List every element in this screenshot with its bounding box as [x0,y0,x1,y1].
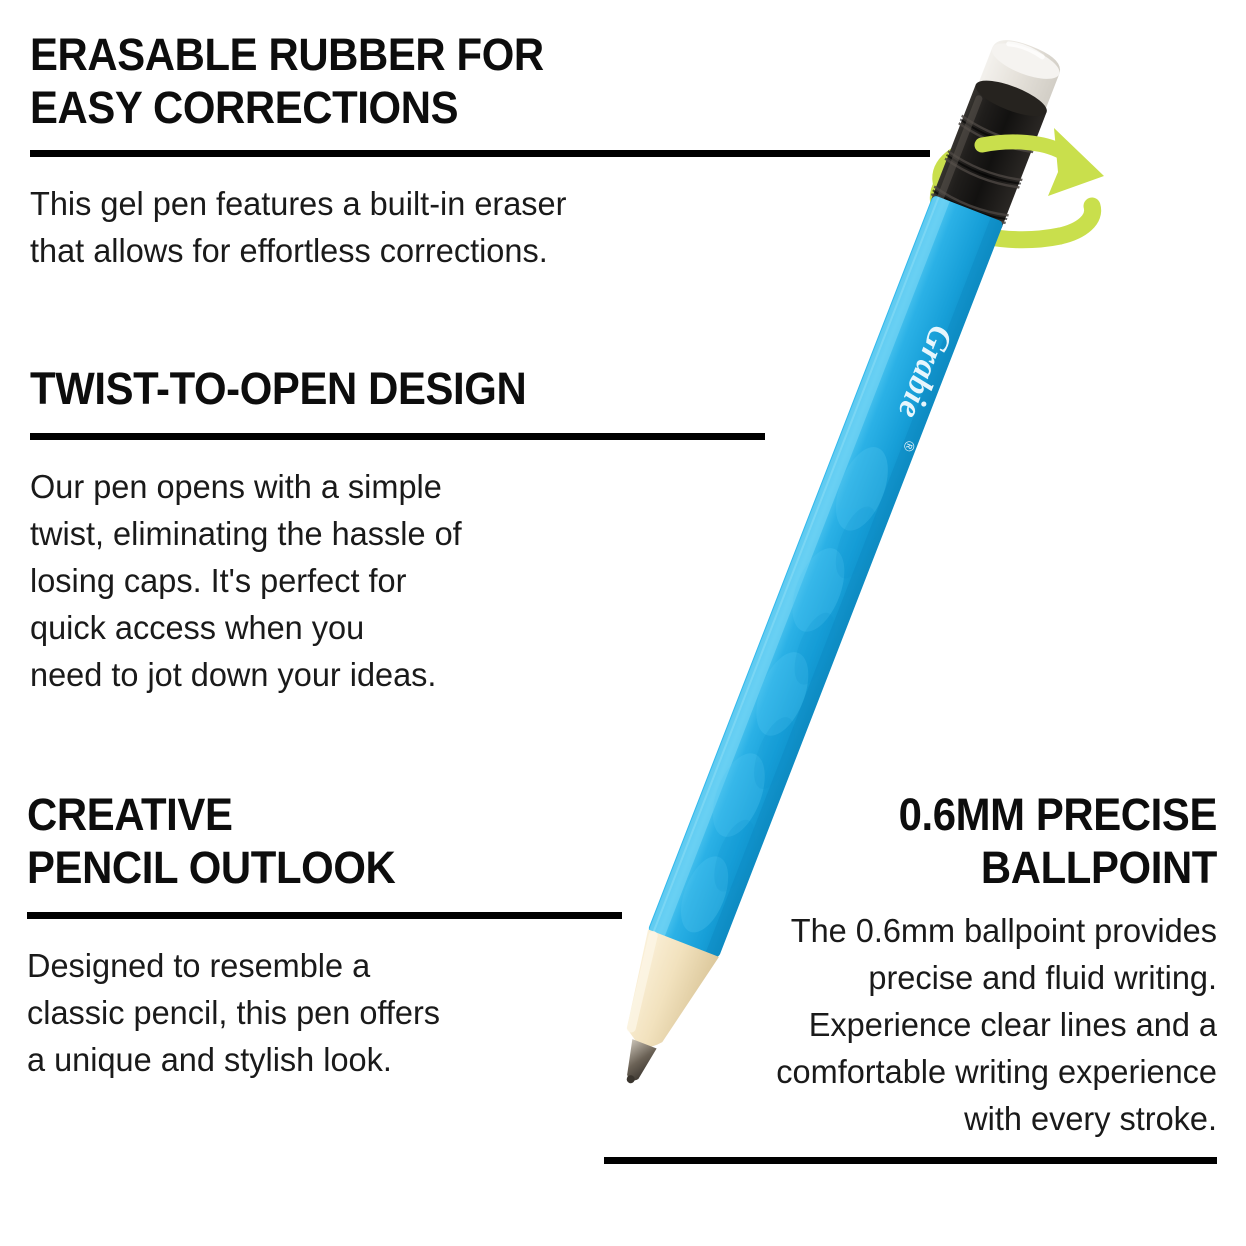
brand-logo: Grabie ® [878,320,961,454]
feature-body-precise-ballpoint: The 0.6mm ballpoint provides precise and… [622,908,1217,1143]
feature-block-precise-ballpoint: 0.6MM PRECISE BALLPOINT The 0.6mm ballpo… [604,788,1217,1164]
brand-logo-text: Grabie [890,320,959,423]
feature-body-erasable-rubber: This gel pen features a built-in eraser … [30,181,908,275]
registered-mark: ® [900,439,919,455]
feature-heading-creative-pencil-outlook: CREATIVE PENCIL OUTLOOK [27,788,583,894]
feature-divider-creative-pencil-outlook [27,912,622,919]
feature-body-creative-pencil-outlook: Designed to resemble a classic pencil, t… [27,943,607,1084]
feature-divider-twist-to-open [30,433,765,440]
feature-block-creative-pencil-outlook: CREATIVE PENCIL OUTLOOK Designed to rese… [27,788,625,1084]
feature-divider-precise-ballpoint [604,1157,1217,1164]
feature-divider-erasable-rubber [30,150,930,157]
rotation-arrow-icon-back [938,145,1060,240]
infographic-canvas: Grabie ® ERASABLE RUBBER FOR EASY CORR [0,0,1246,1246]
black-twist-collar [927,73,1053,234]
feature-heading-twist-to-open: TWIST-TO-OPEN DESIGN [30,362,718,415]
feature-block-erasable-rubber: ERASABLE RUBBER FOR EASY CORRECTIONS Thi… [30,28,935,275]
feature-block-twist-to-open: TWIST-TO-OPEN DESIGN Our pen opens with … [30,362,770,699]
feature-body-twist-to-open: Our pen opens with a simple twist, elimi… [30,464,748,699]
rotation-arrow-icon-front [982,128,1104,236]
feature-heading-erasable-rubber: ERASABLE RUBBER FOR EASY CORRECTIONS [30,28,872,134]
feature-heading-precise-ballpoint: 0.6MM PRECISE BALLPOINT [647,788,1217,894]
eraser-cap [974,33,1065,121]
